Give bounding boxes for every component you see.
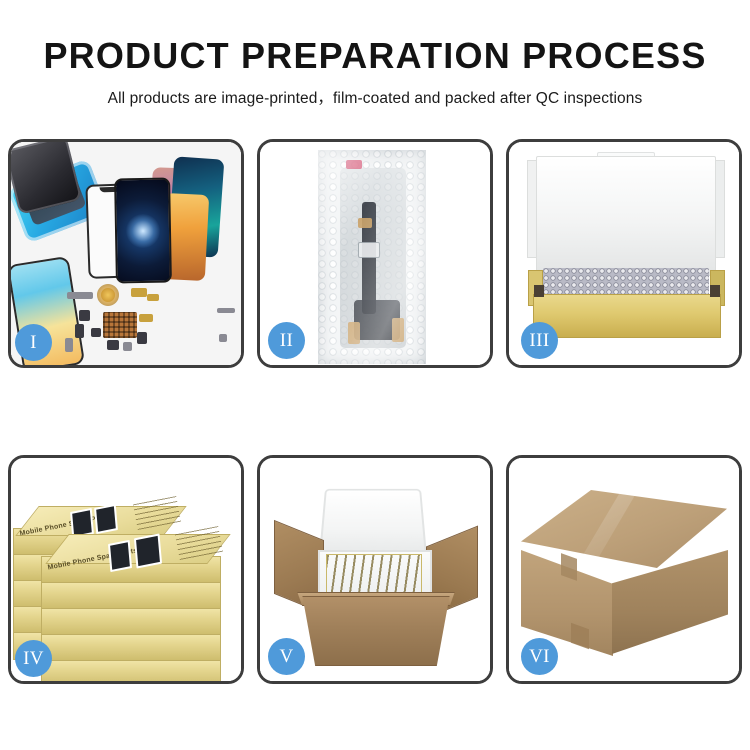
small-part-icon xyxy=(91,328,101,337)
coil-part-icon xyxy=(97,284,119,306)
product-preparation-process-page: PRODUCT PREPARATION PROCESS All products… xyxy=(0,0,750,750)
step-badge-2: II xyxy=(268,322,305,359)
gold-box-tray-icon xyxy=(533,294,721,338)
small-part-icon xyxy=(147,294,159,301)
carton-right-face-icon xyxy=(612,550,728,654)
step-badge-1: I xyxy=(15,324,52,361)
page-header: PRODUCT PREPARATION PROCESS All products… xyxy=(0,0,750,108)
small-part-icon xyxy=(137,332,147,344)
step-badge-5: V xyxy=(268,638,305,675)
product-window-icon xyxy=(108,540,132,572)
step-badge-4: IV xyxy=(15,640,52,677)
small-part-icon xyxy=(75,324,84,338)
small-part-icon xyxy=(65,338,73,352)
bubble-wrap-bag-icon xyxy=(318,150,426,364)
spec-lines xyxy=(133,496,181,530)
stacked-box xyxy=(41,660,221,681)
small-part-icon xyxy=(131,288,147,297)
stacked-box xyxy=(41,634,221,662)
process-step-panel-1[interactable]: I xyxy=(8,139,244,368)
small-part-icon xyxy=(123,342,132,351)
process-step-panel-6[interactable]: VI xyxy=(506,455,742,684)
process-steps-grid: I II xyxy=(8,139,742,684)
page-title: PRODUCT PREPARATION PROCESS xyxy=(0,0,750,76)
foam-cooler-lid-icon xyxy=(319,489,428,560)
spec-lines xyxy=(175,526,223,560)
stacked-box xyxy=(41,608,221,636)
process-step-panel-3[interactable]: III xyxy=(506,139,742,368)
gold-boxes-rows-icon xyxy=(326,554,422,596)
small-part-icon xyxy=(79,310,90,321)
step-badge-3: III xyxy=(521,322,558,359)
process-step-panel-2[interactable]: II xyxy=(257,139,493,368)
page-subtitle: All products are image-printed，film-coat… xyxy=(0,76,750,108)
process-step-panel-5[interactable]: V xyxy=(257,455,493,684)
small-part-icon xyxy=(219,334,227,342)
white-foam-lid-icon xyxy=(536,156,716,276)
small-part-icon xyxy=(139,314,153,322)
product-window-icon xyxy=(94,504,118,534)
stacked-box xyxy=(41,582,221,610)
grid-chip-part-icon xyxy=(103,312,137,338)
small-part-icon xyxy=(217,308,235,313)
process-step-panel-4[interactable]: Mobile Phone Spare Parts Mobile Phone Sp… xyxy=(8,455,244,684)
small-part-icon xyxy=(107,340,119,350)
bag-sheen xyxy=(318,150,426,364)
product-window-icon xyxy=(134,533,162,568)
step-badge-6: VI xyxy=(521,638,558,675)
small-part-icon xyxy=(67,292,93,299)
carton-body-icon xyxy=(296,596,456,666)
phone-dark-screen-icon xyxy=(114,178,172,284)
